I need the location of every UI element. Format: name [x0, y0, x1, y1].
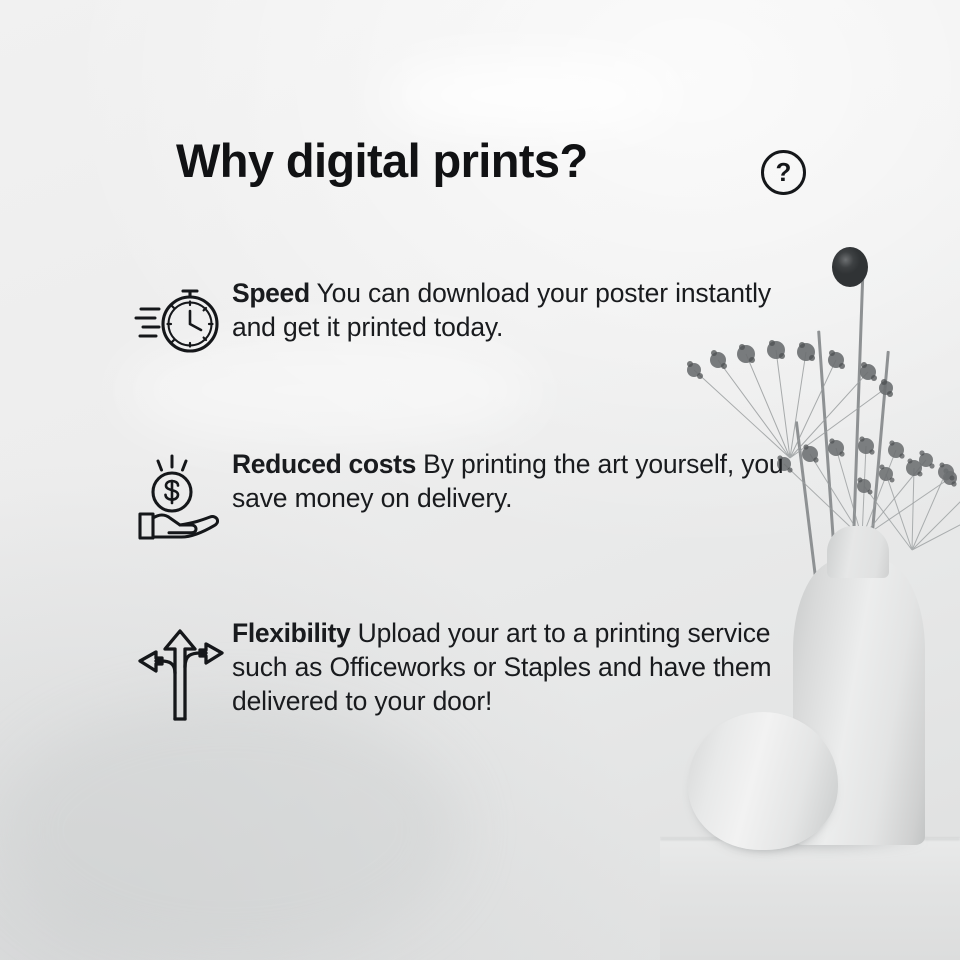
umbellifer-flower-head	[856, 452, 960, 552]
umbellifer-flower-head	[770, 430, 960, 540]
background-shade-bottom-left	[0, 700, 460, 960]
feature-item-flexibility: Flexibility Upload your art to a printin…	[128, 612, 802, 726]
feature-text-flexibility: Flexibility Upload your art to a printin…	[232, 612, 802, 718]
help-icon-glyph: ?	[776, 159, 792, 185]
feature-term: Speed	[232, 278, 310, 308]
three-way-arrows-icon	[128, 612, 232, 726]
flower-stem	[817, 331, 839, 601]
surface-edge	[660, 838, 960, 840]
feature-text-speed: Speed You can download your poster insta…	[232, 272, 792, 344]
hand-holding-coin-icon	[128, 443, 232, 545]
feature-term: Flexibility	[232, 618, 350, 648]
feature-term: Reduced costs	[232, 449, 416, 479]
feature-text-reduced-costs: Reduced costs By printing the art yourse…	[232, 443, 792, 515]
tall-bottle-vase	[793, 560, 925, 845]
stopwatch-speed-icon	[128, 272, 232, 360]
flower-stem	[850, 278, 864, 598]
table-surface	[660, 838, 960, 960]
flower-stem	[795, 421, 821, 610]
round-sphere-vase	[688, 712, 838, 850]
background-highlight	[380, 60, 680, 130]
help-question-mark-icon[interactable]: ?	[761, 150, 806, 195]
flower-stem	[865, 351, 889, 600]
poster-canvas: Why digital prints? ?	[0, 0, 960, 960]
page-title: Why digital prints?	[176, 137, 588, 184]
feature-item-reduced-costs: Reduced costs By printing the art yourse…	[128, 443, 792, 545]
feature-item-speed: Speed You can download your poster insta…	[128, 272, 792, 360]
vase-cast-shadow	[668, 828, 953, 854]
dark-seed-pod	[832, 247, 868, 287]
feature-description: You can download your poster instantly a…	[232, 278, 771, 342]
